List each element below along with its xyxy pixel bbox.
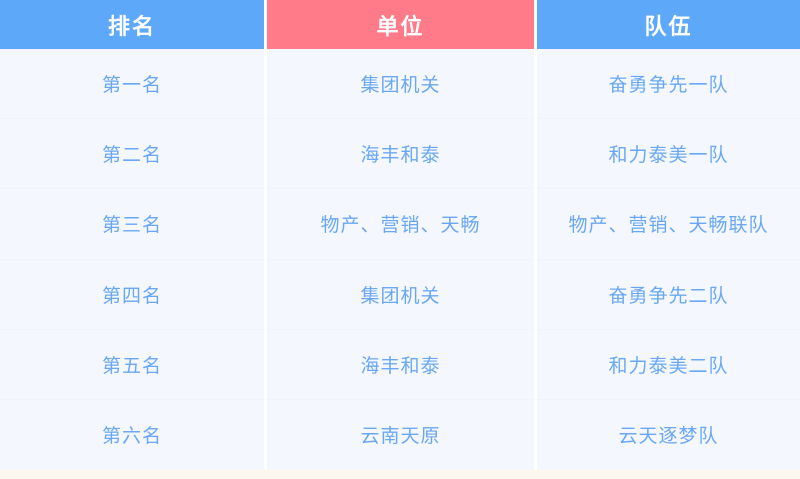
table-row[interactable]: 第一名 集团机关 奋勇争先一队 [0, 49, 800, 119]
table-row[interactable]: 第二名 海丰和泰 和力泰美一队 [0, 119, 800, 189]
cell-rank: 第三名 [0, 189, 264, 259]
cell-team: 云天逐梦队 [537, 400, 800, 470]
cell-unit: 物产、营销、天畅 [267, 189, 534, 259]
cell-unit: 集团机关 [267, 49, 534, 119]
cell-rank: 第一名 [0, 49, 264, 119]
cell-unit: 云南天原 [267, 400, 534, 470]
table-row[interactable]: 第五名 海丰和泰 和力泰美二队 [0, 330, 800, 400]
cell-unit: 海丰和泰 [267, 119, 534, 189]
column-header-unit[interactable]: 单位 [267, 0, 534, 49]
ranking-table: 排名 单位 队伍 第一名 集团机关 奋勇争先一队 第二名 海丰和泰 和力泰美一队… [0, 0, 800, 479]
cell-rank: 第六名 [0, 400, 264, 470]
cell-rank: 第四名 [0, 260, 264, 330]
cell-unit: 集团机关 [267, 260, 534, 330]
table-row[interactable]: 第三名 物产、营销、天畅 物产、营销、天畅联队 [0, 189, 800, 259]
cell-team: 奋勇争先二队 [537, 260, 800, 330]
cell-team: 物产、营销、天畅联队 [537, 189, 800, 259]
table-body: 第一名 集团机关 奋勇争先一队 第二名 海丰和泰 和力泰美一队 第三名 物产、营… [0, 49, 800, 470]
table-header-row: 排名 单位 队伍 [0, 0, 800, 49]
cell-rank: 第二名 [0, 119, 264, 189]
table-row[interactable]: 第六名 云南天原 云天逐梦队 [0, 400, 800, 470]
cell-team: 奋勇争先一队 [537, 49, 800, 119]
cell-team: 和力泰美一队 [537, 119, 800, 189]
cell-rank: 第五名 [0, 330, 264, 400]
column-header-team[interactable]: 队伍 [537, 0, 800, 49]
page-bottom-strip [0, 470, 800, 479]
cell-unit: 海丰和泰 [267, 330, 534, 400]
table-row[interactable]: 第四名 集团机关 奋勇争先二队 [0, 260, 800, 330]
cell-team: 和力泰美二队 [537, 330, 800, 400]
column-header-rank[interactable]: 排名 [0, 0, 264, 49]
